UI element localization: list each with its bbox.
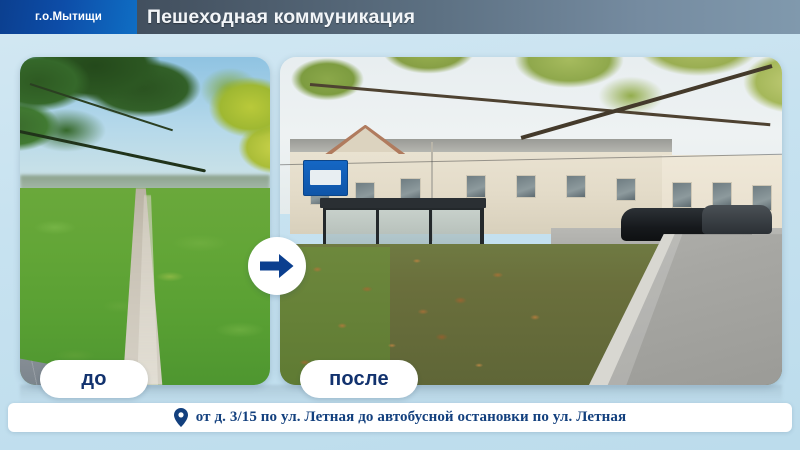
after-window <box>466 175 486 198</box>
page-title-text: Пешеходная коммуникация <box>147 6 415 29</box>
after-photo <box>280 57 782 385</box>
after-photo-art <box>280 57 782 385</box>
arrow-right-icon <box>260 253 294 279</box>
before-label-chip: до <box>40 360 148 398</box>
city-badge-label: г.о.Мытищи <box>35 11 102 23</box>
before-after-arrow-button[interactable] <box>248 237 306 295</box>
before-yellow-tree <box>170 64 270 208</box>
city-badge: г.о.Мытищи <box>0 0 137 34</box>
after-tree-canopy <box>280 57 782 162</box>
after-label-chip: после <box>300 360 418 398</box>
bus-stop-sign-face <box>310 170 341 185</box>
after-window <box>616 178 636 201</box>
before-photo-art <box>20 57 270 385</box>
location-caption-text: от д. 3/15 по ул. Летная до автобусной о… <box>196 409 626 426</box>
page-title: Пешеходная коммуникация <box>147 0 415 34</box>
before-photo <box>20 57 270 385</box>
after-parked-car-second <box>702 205 772 235</box>
map-pin-icon <box>174 408 188 427</box>
bus-stop-sign-icon <box>303 160 348 196</box>
after-window <box>672 182 692 208</box>
comparison-stage: до после <box>0 34 800 450</box>
before-label-text: до <box>81 368 106 391</box>
after-bus-shelter-roof <box>320 198 486 208</box>
after-window <box>516 175 536 198</box>
after-window <box>712 182 732 208</box>
after-window <box>566 175 586 198</box>
page-header: г.о.Мытищи Пешеходная коммуникация <box>0 0 800 34</box>
after-label-text: после <box>329 368 389 391</box>
location-caption-bar: от д. 3/15 по ул. Летная до автобусной о… <box>8 403 792 432</box>
